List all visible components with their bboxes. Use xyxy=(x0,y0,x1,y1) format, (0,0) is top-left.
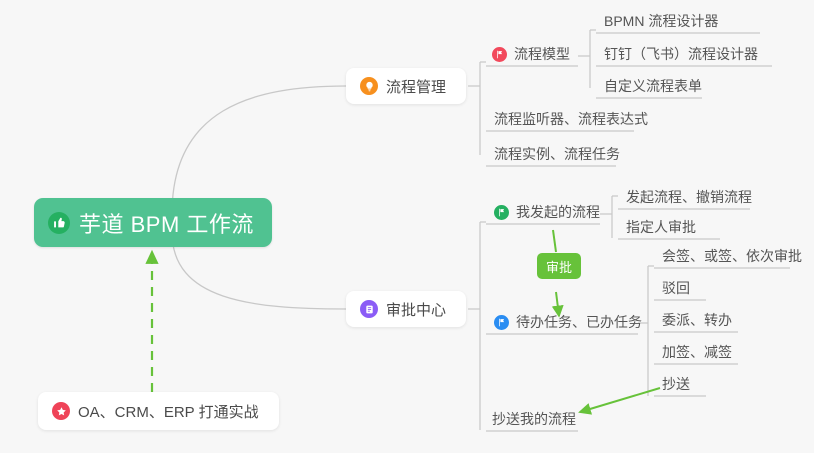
node-label: 指定人审批 xyxy=(626,214,696,240)
mindmap-canvas: 芋道 BPM 工作流 流程管理 流程模型 BPMN 流程设计器 钉钉（飞书）流程… xyxy=(0,0,814,453)
node-delegate-transfer[interactable]: 委派、转办 xyxy=(656,307,738,333)
node-label: 流程实例、流程任务 xyxy=(494,141,620,167)
node-label: 会签、或签、依次审批 xyxy=(662,243,802,269)
node-start-cancel-process[interactable]: 发起流程、撤销流程 xyxy=(620,184,758,210)
floating-node-oa-crm-erp[interactable]: OA、CRM、ERP 打通实战 xyxy=(38,392,279,430)
flag-icon xyxy=(492,47,507,62)
flag-icon xyxy=(494,205,509,220)
node-label: 流程监听器、流程表达式 xyxy=(494,106,648,132)
node-process-model[interactable]: 流程模型 xyxy=(490,41,576,67)
node-label: 委派、转办 xyxy=(662,307,732,333)
branch-node-approval-center[interactable]: 审批中心 xyxy=(346,291,466,327)
lightbulb-icon xyxy=(360,77,378,95)
root-label: 芋道 BPM 工作流 xyxy=(79,207,254,239)
node-cc-to-me[interactable]: 抄送我的流程 xyxy=(486,406,582,432)
node-todo-done-task[interactable]: 待办任务、已办任务 xyxy=(492,309,648,335)
node-label: 钉钉（飞书）流程设计器 xyxy=(604,41,758,67)
thumbs-up-icon xyxy=(48,212,70,234)
node-instance-task[interactable]: 流程实例、流程任务 xyxy=(488,141,626,167)
branch-label: 审批中心 xyxy=(386,299,446,320)
floating-node-label: OA、CRM、ERP 打通实战 xyxy=(78,401,259,422)
branch-label: 流程管理 xyxy=(386,76,446,97)
node-listener-expression[interactable]: 流程监听器、流程表达式 xyxy=(488,106,654,132)
annotation-tag-approval: 审批 xyxy=(537,253,581,279)
node-custom-form[interactable]: 自定义流程表单 xyxy=(598,73,708,99)
node-label: 加签、减签 xyxy=(662,339,732,365)
node-add-remove-sign[interactable]: 加签、减签 xyxy=(656,339,738,365)
branch-node-process-management[interactable]: 流程管理 xyxy=(346,68,466,104)
node-label: 驳回 xyxy=(662,275,690,301)
node-label: 抄送我的流程 xyxy=(492,406,576,432)
node-bpmn-designer[interactable]: BPMN 流程设计器 xyxy=(598,8,724,34)
node-label: 我发起的流程 xyxy=(516,199,600,225)
star-icon xyxy=(52,402,70,420)
node-label: 待办任务、已办任务 xyxy=(516,309,642,335)
node-label: BPMN 流程设计器 xyxy=(604,8,718,34)
flag-icon xyxy=(494,315,509,330)
node-label: 发起流程、撤销流程 xyxy=(626,184,752,210)
node-cc[interactable]: 抄送 xyxy=(656,371,696,397)
node-reject[interactable]: 驳回 xyxy=(656,275,696,301)
clipboard-icon xyxy=(360,300,378,318)
root-node[interactable]: 芋道 BPM 工作流 xyxy=(34,198,272,247)
annotation-label: 审批 xyxy=(546,257,572,276)
node-label: 流程模型 xyxy=(514,41,570,67)
node-assigned-approval[interactable]: 指定人审批 xyxy=(620,214,702,240)
node-countersign[interactable]: 会签、或签、依次审批 xyxy=(656,243,808,269)
node-label: 抄送 xyxy=(662,371,690,397)
node-label: 自定义流程表单 xyxy=(604,73,702,99)
node-my-started-process[interactable]: 我发起的流程 xyxy=(492,199,606,225)
node-dingtalk-designer[interactable]: 钉钉（飞书）流程设计器 xyxy=(598,41,764,67)
